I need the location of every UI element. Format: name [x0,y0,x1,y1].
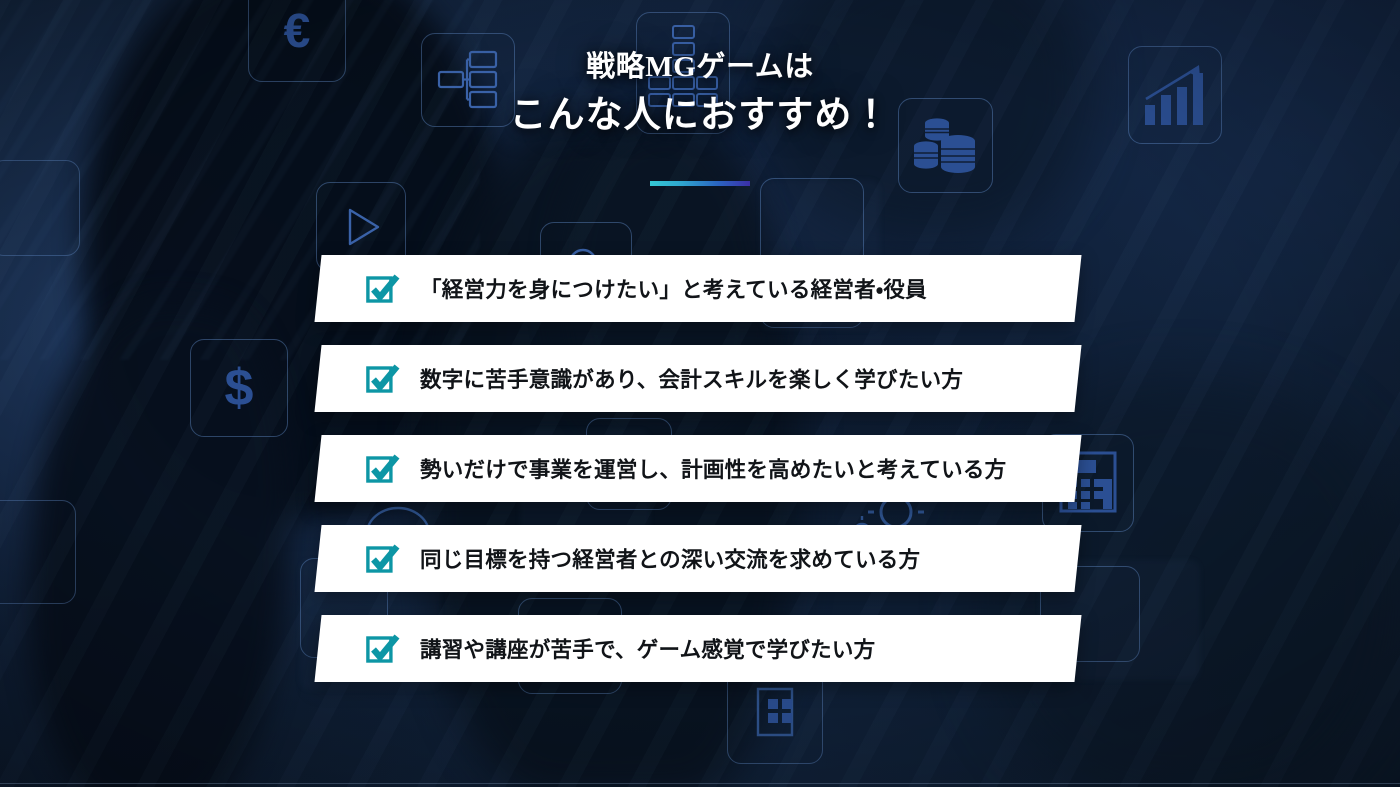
checklist-item: 講習や講座が苦手で、ゲーム感覚で学びたい方 [0,615,1400,682]
checklist-item-label: 「経営力を身につけたい」と考えている経営者・役員 [420,273,927,304]
coin-stacks-icon [898,98,993,193]
org-chart-icon [421,33,515,127]
checklist-item-content: 数字に苦手意識があり、会計スキルを楽しく学びたい方 [318,345,1078,412]
checklist-item: 勢いだけで事業を運営し、計画性を高めたいと考えている方 [0,435,1400,502]
checklist-item-label: 講習や講座が苦手で、ゲーム感覚で学びたい方 [420,633,875,664]
spreadsheet-grid-icon [636,12,730,134]
blank-card-icon [0,160,80,256]
checkbox-checked-icon [366,633,400,665]
checkbox-checked-icon [366,453,400,485]
checkbox-checked-icon [366,543,400,575]
checklist-item-label: 勢いだけで事業を運営し、計画性を高めたいと考えている方 [420,453,1006,484]
checklist-item-label: 数字に苦手意識があり、会計スキルを楽しく学びたい方 [420,363,963,394]
checkbox-checked-icon [366,273,400,305]
svg-text:€: € [284,7,311,58]
bar-chart-growth-icon [1128,46,1222,144]
checklist-item-content: 勢いだけで事業を運営し、計画性を高めたいと考えている方 [318,435,1078,502]
checklist-item-content: 同じ目標を持つ経営者との深い交流を求めている方 [318,525,1078,592]
checklist-item-content: 「経営力を身につけたい」と考えている経営者・役員 [318,255,1078,322]
checklist-item: 同じ目標を持つ経営者との深い交流を求めている方 [0,525,1400,592]
gradient-divider [650,181,750,186]
bottom-divider-line [0,783,1400,784]
euro-currency-icon: € [248,0,346,82]
promo-banner: € [0,0,1400,787]
checklist-item: 「経営力を身につけたい」と考えている経営者・役員 [0,255,1400,322]
checklist-item-content: 講習や講座が苦手で、ゲーム感覚で学びたい方 [318,615,1078,682]
checkbox-checked-icon [366,363,400,395]
checklist-item-label: 同じ目標を持つ経営者との深い交流を求めている方 [420,543,920,574]
checklist-item: 数字に苦手意識があり、会計スキルを楽しく学びたい方 [0,345,1400,412]
recommendation-checklist: 「経営力を身につけたい」と考えている経営者・役員 数字に苦手意識があり、会計スキ… [0,255,1400,705]
